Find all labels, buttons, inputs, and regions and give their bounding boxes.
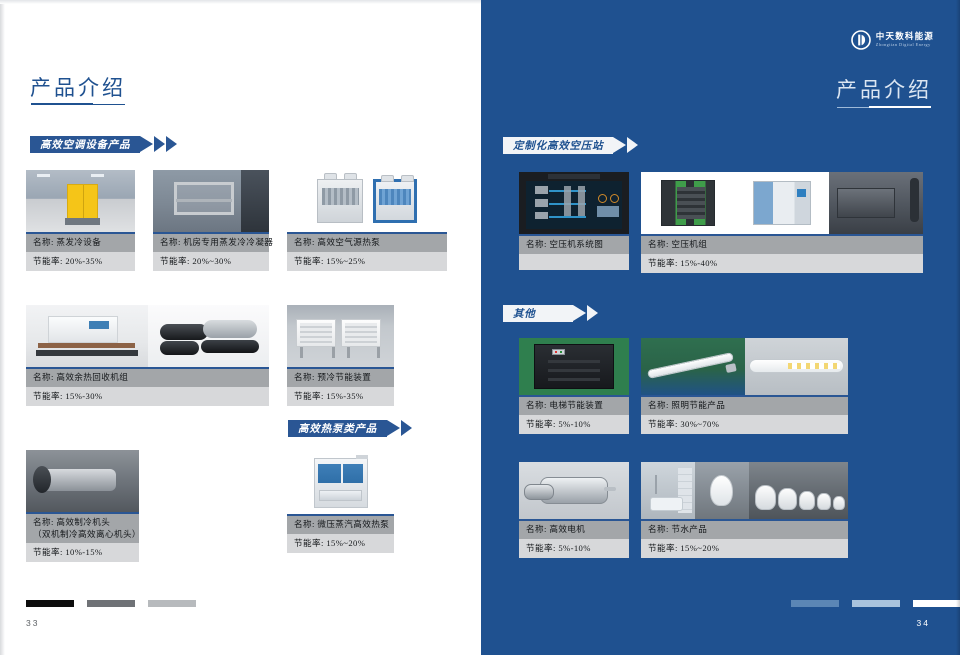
brochure-spread: 产品介绍 高效空调设备产品 名称: 蒸发冷设备 节能率: 20%-35%	[0, 0, 960, 655]
footer-bar	[87, 600, 135, 607]
banner-chevron-icon	[587, 305, 598, 321]
product-rate: 节能率: 15%-35%	[287, 387, 394, 406]
product-card[interactable]: 名称: 照明节能产品 节能率: 30%~70%	[641, 338, 848, 434]
product-image-group	[26, 305, 269, 367]
product-name: 名称: 高效余热回收机组	[26, 369, 269, 387]
banner-chevron-icon	[401, 420, 412, 436]
product-card[interactable]: 名称: 高效空气源热泵 节能率: 15%~25%	[287, 170, 447, 271]
page-title-left: 产品介绍	[30, 72, 126, 102]
page-number-left: 33	[26, 618, 39, 628]
product-rate: 节能率: 20%-35%	[26, 252, 135, 271]
banner-arrow-icon	[613, 137, 626, 153]
product-image	[641, 172, 735, 234]
banner-arrow-icon	[140, 136, 153, 152]
product-card[interactable]: 名称: 电梯节能装置 节能率: 5%-10%	[519, 338, 629, 434]
title-underline-left-thin	[93, 104, 125, 105]
footer-bar	[26, 600, 74, 607]
product-image	[26, 450, 139, 512]
product-image	[745, 338, 849, 395]
product-rate: 节能率: 15%-40%	[641, 254, 923, 273]
product-image-group	[641, 338, 848, 395]
page-title-right: 产品介绍	[836, 74, 932, 104]
product-name: 名称: 高效电机	[519, 521, 629, 539]
product-image	[735, 172, 829, 234]
product-card[interactable]: 名称: 空压机系统图	[519, 172, 629, 270]
banner-chevron-icon-2	[166, 136, 177, 152]
brand-name-cn: 中天数科能源	[876, 32, 934, 41]
footer-bar	[913, 600, 960, 607]
section-banner-other-label: 其他	[503, 305, 573, 322]
product-image	[153, 170, 269, 232]
product-image	[26, 305, 148, 367]
banner-chevron-icon	[154, 136, 165, 152]
page-number-right: 34	[917, 618, 930, 628]
product-name: 名称: 高效制冷机头 （双机制冷高效离心机头）	[26, 514, 139, 543]
product-image	[829, 172, 923, 234]
banner-chevron-icon	[627, 137, 638, 153]
product-image-group	[641, 462, 848, 519]
product-image	[287, 452, 394, 514]
product-name: 名称: 高效空气源热泵	[287, 234, 447, 252]
product-rate: 节能率: 15%~20%	[287, 534, 394, 553]
section-banner-other[interactable]: 其他	[503, 305, 598, 322]
product-name: 名称: 机房专用蒸发冷冷凝器	[153, 234, 269, 252]
product-rate: 节能率: 30%~70%	[641, 415, 848, 434]
title-underline-right	[869, 106, 931, 108]
product-image	[519, 462, 629, 519]
title-underline-right-thin	[837, 107, 869, 108]
product-rate	[519, 254, 629, 270]
product-card[interactable]: 名称: 节水产品 节能率: 15%~20%	[641, 462, 848, 558]
page-left: 产品介绍 高效空调设备产品 名称: 蒸发冷设备 节能率: 20%-35%	[0, 0, 481, 655]
product-rate: 节能率: 15%-30%	[26, 387, 269, 406]
section-banner-heatpump[interactable]: 高效热泵类产品	[288, 420, 412, 437]
section-banner-hvac-label: 高效空调设备产品	[30, 136, 140, 153]
product-rate: 节能率: 5%-10%	[519, 415, 629, 434]
product-image	[148, 305, 270, 367]
product-name: 名称: 空压机组	[641, 236, 923, 254]
footer-progress-bars-right	[791, 600, 960, 607]
product-name: 名称: 电梯节能装置	[519, 397, 629, 415]
product-name: 名称: 节水产品	[641, 521, 848, 539]
footer-bar	[852, 600, 900, 607]
company-logo-icon	[851, 30, 871, 50]
product-rate: 节能率: 15%~20%	[641, 539, 848, 558]
product-image	[749, 462, 848, 519]
product-rate: 节能率: 20%~30%	[153, 252, 269, 271]
page-right: 中天数科能源 Zhongtian Digital Energy 产品介绍 定制化…	[481, 0, 960, 655]
product-card[interactable]: 名称: 高效制冷机头 （双机制冷高效离心机头） 节能率: 10%-15%	[26, 450, 139, 562]
section-banner-compressor-label: 定制化高效空压站	[503, 137, 613, 154]
banner-arrow-icon	[573, 305, 586, 321]
banner-arrow-icon	[387, 420, 400, 436]
product-card[interactable]: 名称: 预冷节能装置 节能率: 15%-35%	[287, 305, 394, 406]
product-image	[287, 305, 394, 367]
product-name: 名称: 空压机系统图	[519, 236, 629, 254]
product-name: 名称: 微压蒸汽高效热泵	[287, 516, 394, 534]
footer-bar	[791, 600, 839, 607]
product-rate: 节能率: 5%-10%	[519, 539, 629, 558]
product-card[interactable]: 名称: 蒸发冷设备 节能率: 20%-35%	[26, 170, 135, 271]
product-image	[519, 338, 629, 395]
section-banner-heatpump-label: 高效热泵类产品	[288, 420, 387, 437]
product-card[interactable]: 名称: 微压蒸汽高效热泵 节能率: 15%~20%	[287, 452, 394, 553]
product-card[interactable]: 名称: 空压机组 节能率: 15%-40%	[641, 172, 923, 273]
product-name: 名称: 照明节能产品	[641, 397, 848, 415]
product-name-line2: （双机制冷高效离心机头）	[33, 529, 133, 541]
product-card[interactable]: 名称: 高效余热回收机组 节能率: 15%-30%	[26, 305, 269, 406]
section-banner-hvac[interactable]: 高效空调设备产品	[30, 136, 177, 153]
product-image	[641, 462, 695, 519]
footer-bar	[148, 600, 196, 607]
product-rate: 节能率: 15%~25%	[287, 252, 447, 271]
product-image	[287, 170, 447, 232]
section-banner-compressor[interactable]: 定制化高效空压站	[503, 137, 638, 154]
product-image-group	[641, 172, 923, 234]
product-image	[26, 170, 135, 232]
product-image	[695, 462, 749, 519]
brand-name-en: Zhongtian Digital Energy	[876, 42, 934, 48]
product-rate: 节能率: 10%-15%	[26, 543, 139, 562]
product-card[interactable]: 名称: 高效电机 节能率: 5%-10%	[519, 462, 629, 558]
product-image	[641, 338, 745, 395]
product-name: 名称: 蒸发冷设备	[26, 234, 135, 252]
product-name: 名称: 预冷节能装置	[287, 369, 394, 387]
footer-progress-bars-left	[26, 600, 196, 607]
product-card[interactable]: 名称: 机房专用蒸发冷冷凝器 节能率: 20%~30%	[153, 170, 269, 271]
product-name-line1: 名称: 高效制冷机头	[33, 517, 110, 527]
title-underline-left	[31, 103, 93, 105]
brand-logo: 中天数科能源 Zhongtian Digital Energy	[851, 30, 934, 50]
product-image	[519, 172, 629, 234]
